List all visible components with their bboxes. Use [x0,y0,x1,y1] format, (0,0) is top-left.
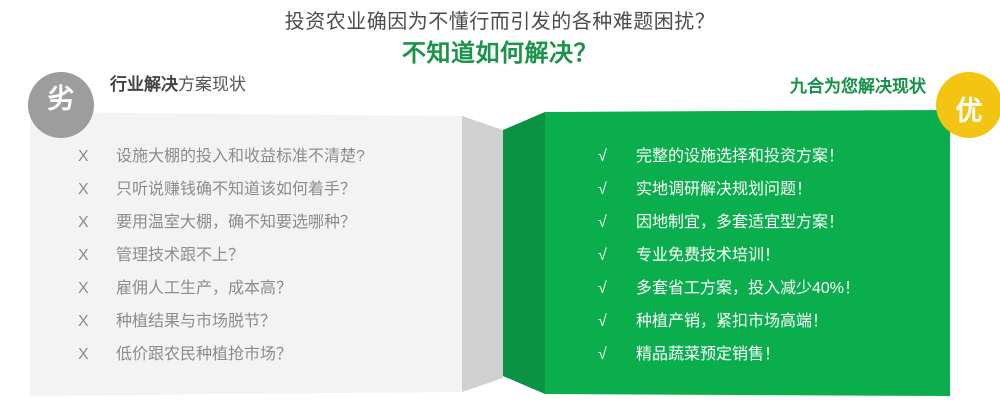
check-icon: √ [598,338,636,371]
cross-icon: X [78,272,116,305]
list-item-label: 精品蔬菜预定销售！ [636,338,780,371]
cross-icon: X [78,338,116,371]
list-item-label: 种植产销，紧扣市场高端！ [636,305,828,338]
badge-inferior-label: 劣 [48,86,75,113]
problems-heading: 行业解决方案现状 [110,74,246,96]
list-item: √ 专业免费技术培训！ [598,239,948,272]
list-item-label: 只听说赚钱确不知道该如何着手？ [116,173,356,206]
problems-list: X 设施大棚的投入和收益标准不清楚? X 只听说赚钱确不知道该如何着手？ X 要… [78,140,448,371]
check-icon: √ [598,173,636,206]
solutions-list: √ 完整的设施选择和投资方案！ √ 实地调研解决规划问题！ √ 因地制宜，多套适… [598,140,948,371]
badge-inferior: 劣 [28,72,94,138]
list-item: X 管理技术跟不上？ [78,239,448,272]
headline-block: 投资农业确因为不懂行而引发的各种难题困扰？ 不知道如何解决？ [0,8,1000,70]
headline-question: 投资农业确因为不懂行而引发的各种难题困扰？ [0,8,1000,36]
list-item: X 设施大棚的投入和收益标准不清楚? [78,140,448,173]
cross-icon: X [78,140,116,173]
check-icon: √ [598,305,636,338]
check-icon: √ [598,206,636,239]
badge-superior: 优 [936,72,1000,138]
problems-heading-rest: 方案现状 [178,75,246,94]
list-item: X 要用温室大棚，确不知要选哪种？ [78,206,448,239]
list-item-label: 因地制宜，多套适宜型方案！ [636,206,844,239]
cross-icon: X [78,305,116,338]
badge-superior-label: 优 [956,98,983,125]
solutions-panel-fold [503,110,545,396]
solutions-heading: 九合为您解决现状 [790,76,926,98]
list-item-label: 低价跟农民种植抢市场？ [116,338,292,371]
list-item-label: 专业免费技术培训！ [636,239,780,272]
list-item-label: 实地调研解决规划问题！ [636,173,812,206]
check-icon: √ [598,239,636,272]
list-item: √ 多套省工方案，投入减少40%！ [598,272,948,305]
infographic-canvas: 投资农业确因为不懂行而引发的各种难题困扰？ 不知道如何解决？ 劣 优 行业解决方… [0,0,1000,416]
list-item: √ 因地制宜，多套适宜型方案！ [598,206,948,239]
list-item-label: 设施大棚的投入和收益标准不清楚? [116,140,365,173]
list-item-label: 种植结果与市场脱节？ [116,305,276,338]
list-item: √ 精品蔬菜预定销售！ [598,338,948,371]
list-item: X 种植结果与市场脱节？ [78,305,448,338]
list-item-label: 完整的设施选择和投资方案！ [636,140,844,173]
list-item: √ 实地调研解决规划问题！ [598,173,948,206]
cross-icon: X [78,173,116,206]
cross-icon: X [78,239,116,272]
problems-heading-strong: 行业解决 [110,75,178,94]
list-item-label: 雇佣人工生产，成本高？ [116,272,292,305]
list-item-label: 要用温室大棚，确不知要选哪种？ [116,206,356,239]
list-item: √ 完整的设施选择和投资方案！ [598,140,948,173]
check-icon: √ [598,272,636,305]
check-icon: √ [598,140,636,173]
list-item: X 低价跟农民种植抢市场？ [78,338,448,371]
list-item: X 只听说赚钱确不知道该如何着手？ [78,173,448,206]
list-item: √ 种植产销，紧扣市场高端！ [598,305,948,338]
headline-emphasis: 不知道如何解决？ [0,38,1000,70]
list-item: X 雇佣人工生产，成本高？ [78,272,448,305]
problems-panel-fold [462,112,503,396]
list-item-label: 多套省工方案，投入减少40%！ [636,272,860,305]
cross-icon: X [78,206,116,239]
list-item-label: 管理技术跟不上？ [116,239,244,272]
